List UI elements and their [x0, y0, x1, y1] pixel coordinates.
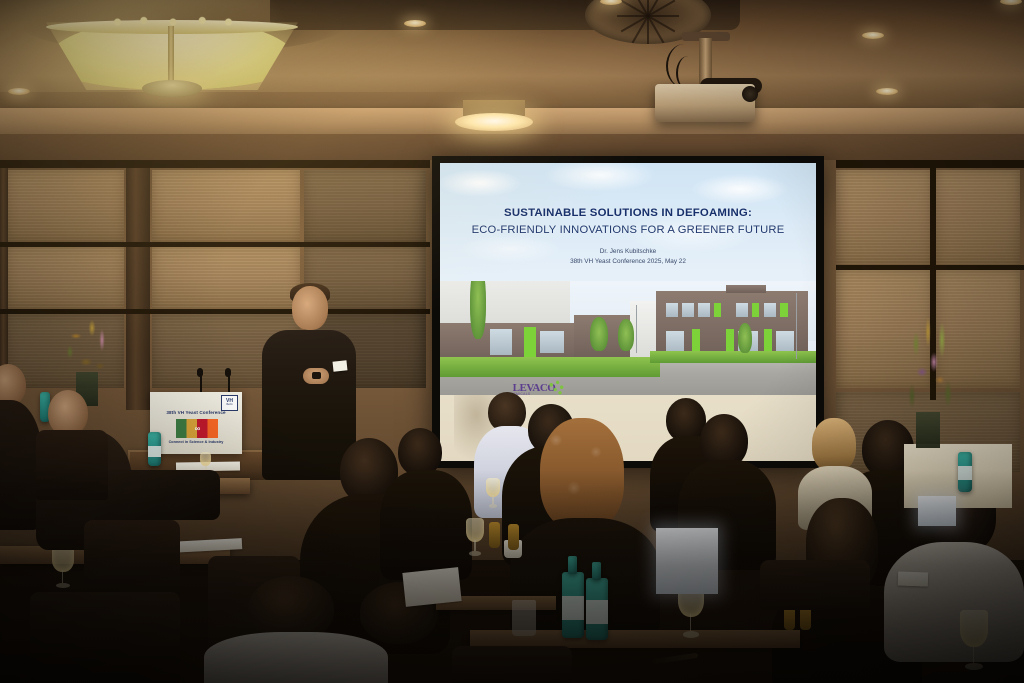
window — [666, 303, 678, 317]
wall-panel — [936, 170, 1020, 266]
chair — [760, 560, 870, 610]
paper-handout — [898, 571, 928, 586]
slide-event-line: 38th VH Yeast Conference 2025, May 22 — [440, 257, 816, 267]
laptop-screen — [918, 496, 956, 526]
wall-panel — [6, 246, 124, 310]
conference-photo: SUSTAINABLE SOLUTIONS IN DEFOAMING: ECO-… — [0, 0, 1024, 683]
window-shutter — [714, 303, 721, 317]
window — [682, 303, 694, 317]
condiment-bottle — [508, 524, 519, 550]
window — [490, 329, 512, 355]
ceiling-spotlight — [876, 88, 898, 95]
paper-handout — [402, 567, 461, 607]
speaker-head — [292, 286, 328, 330]
window-shutter — [524, 327, 536, 357]
wall-panel — [152, 170, 300, 242]
projector — [655, 84, 755, 122]
bottle-label — [958, 466, 972, 480]
ceiling-spotlight — [862, 32, 884, 39]
window — [698, 303, 710, 317]
presentation-slide: SUSTAINABLE SOLUTIONS IN DEFOAMING: ECO-… — [440, 163, 816, 395]
flower-arrangement — [898, 310, 960, 420]
podium-sign: VH Berlin 38th VH Yeast Conference ∞ Con… — [150, 392, 242, 454]
slide-photo-campus: LEVACO CHEMICALS — [440, 281, 816, 395]
flower-arrangement — [62, 318, 114, 378]
window — [736, 303, 748, 317]
window — [776, 331, 794, 353]
wine-glass — [960, 610, 988, 670]
oval-ceiling-light — [455, 113, 533, 131]
slide-title-line1: SUSTAINABLE SOLUTIONS IN DEFOAMING: — [440, 205, 816, 222]
wall-panel — [304, 170, 426, 242]
speaker-name-badge — [333, 360, 348, 371]
wine-glass — [486, 478, 500, 508]
ceiling-spotlight — [404, 20, 426, 27]
wall-panel — [836, 170, 932, 266]
wall-mullion — [0, 242, 430, 247]
dome-chandelier — [46, 8, 298, 94]
bottle-label — [562, 596, 584, 620]
wall-mullion — [0, 160, 430, 168]
building-roof — [726, 285, 766, 293]
window-shutter — [752, 303, 759, 317]
sdg-infinity-icon: ∞ — [195, 424, 200, 433]
head-curly — [540, 418, 624, 530]
levaco-logo-dots-icon — [548, 380, 564, 395]
wine-glass — [466, 518, 484, 556]
tree — [618, 319, 634, 351]
slide-title: SUSTAINABLE SOLUTIONS IN DEFOAMING: ECO-… — [440, 205, 816, 238]
wall-pillar — [126, 160, 150, 410]
bottle-label — [148, 446, 161, 457]
drinking-glass — [512, 600, 536, 636]
tree — [738, 323, 752, 353]
window — [764, 303, 776, 317]
slide-title-line2: ECO-FRIENDLY INNOVATIONS FOR A GREENER F… — [440, 222, 816, 238]
lamp-post — [796, 293, 797, 359]
tree — [590, 317, 608, 351]
vh-logo-badge: VH Berlin — [221, 395, 238, 411]
bottle-neck — [592, 562, 601, 580]
window — [666, 331, 684, 353]
audience-member-legs — [90, 470, 220, 520]
torso — [380, 470, 472, 580]
ceiling-spotlight — [8, 88, 30, 95]
head — [812, 418, 856, 472]
tree — [470, 281, 486, 339]
torso — [884, 542, 1024, 662]
window-shutter — [780, 303, 788, 317]
wall-mullion — [0, 309, 430, 314]
pen — [652, 653, 698, 664]
wall-panel — [152, 246, 300, 310]
chair — [30, 592, 180, 683]
lawn — [440, 357, 660, 377]
microphone-icon — [225, 368, 231, 377]
window — [540, 331, 564, 353]
bottle-neck — [568, 556, 577, 574]
podium-conference-title: 38th VH Yeast Conference — [150, 410, 242, 415]
lamp-post — [636, 305, 637, 353]
ceiling — [0, 0, 1024, 172]
chair — [452, 646, 572, 683]
wall-panel — [6, 170, 124, 242]
head — [398, 428, 442, 476]
microphone-icon — [197, 368, 203, 377]
slide-presenter-name: Dr. Jens Kubitschke — [440, 247, 816, 257]
projector-lens-icon — [742, 86, 758, 102]
laptop-screen — [656, 528, 718, 594]
bottle-label — [586, 600, 608, 624]
slide-subtitle: Dr. Jens Kubitschke 38th VH Yeast Confer… — [440, 247, 816, 268]
torso — [204, 632, 388, 683]
vh-logo-sub: Berlin — [226, 404, 232, 406]
presentation-clicker — [312, 372, 321, 379]
condiment-bottle — [489, 522, 500, 548]
lawn — [650, 351, 816, 363]
wine-glass — [52, 546, 74, 588]
sdg-color-bar: ∞ — [176, 419, 218, 438]
building-white — [440, 281, 570, 329]
podium-tagline: Connect in Science & Industry — [150, 440, 242, 444]
chair — [36, 430, 108, 500]
